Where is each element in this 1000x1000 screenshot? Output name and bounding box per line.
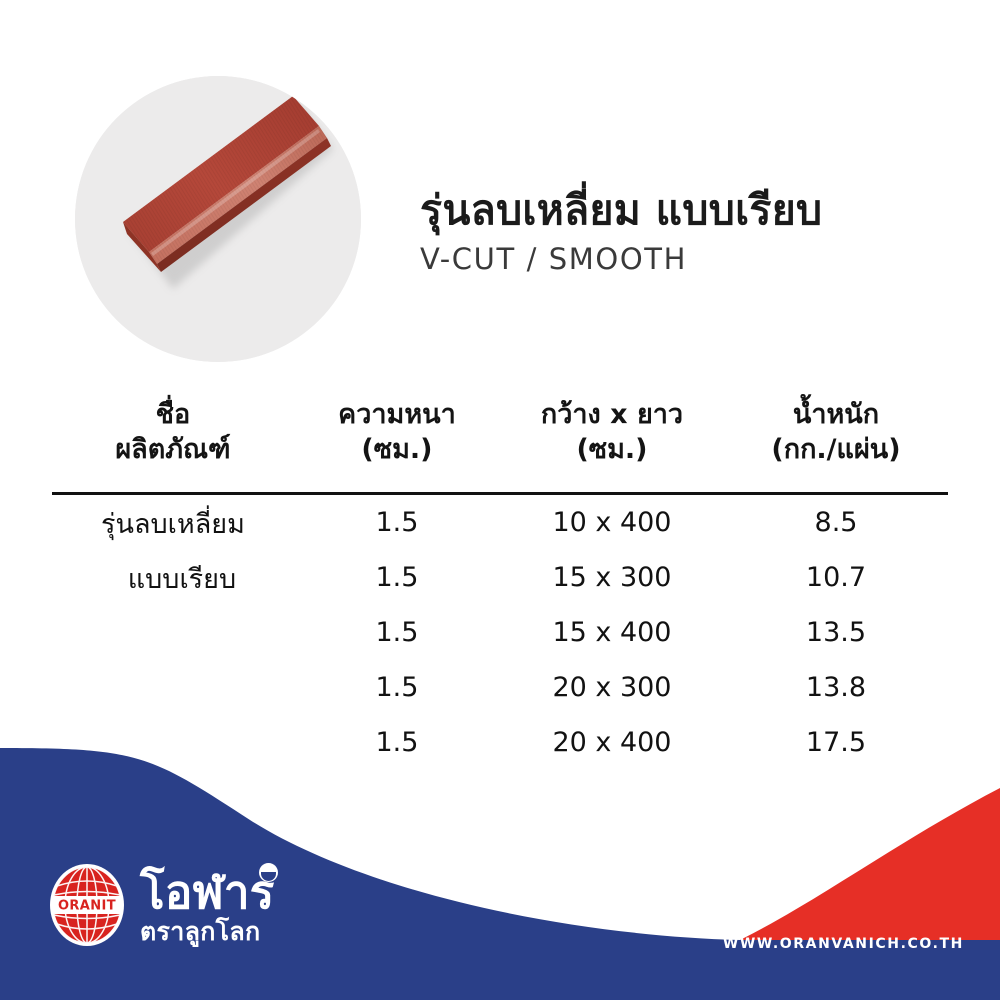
header-line-2: ผลิตภัณฑ์ (52, 433, 294, 468)
cell-weight: 13.5 (724, 605, 948, 660)
product-name-line-2: แบบเรียบ (52, 552, 294, 607)
brand-lockup: ORANIT โอฬาร ตราลูกโลก (48, 862, 274, 948)
product-name-cell: รุ่นลบเหลี่ยม แบบเรียบ (52, 481, 294, 770)
plank-illustration (75, 76, 361, 362)
header-line-1: กว้าง x ยาว (500, 398, 724, 433)
cell-dimensions: 15 x 300 (500, 550, 724, 605)
product-title-thai: รุ่นลบเหลี่ยม แบบเรียบ (420, 186, 960, 234)
header-line-2: (ซม.) (294, 433, 500, 468)
header-line-1: ความหนา (294, 398, 500, 433)
website-url[interactable]: WWW.ORANVANICH.CO.TH (723, 936, 964, 952)
product-title-block: รุ่นลบเหลี่ยม แบบเรียบ V-CUT / SMOOTH (420, 186, 960, 276)
oranit-globe-logo-icon: ORANIT (48, 862, 126, 948)
cell-weight: 13.8 (724, 660, 948, 715)
table-header-divider (52, 492, 948, 495)
cell-thickness: 1.5 (294, 660, 500, 715)
header-line-2: (ซม.) (500, 433, 724, 468)
brand-subtitle-thai: ตราลูกโลก (140, 919, 274, 944)
cell-thickness: 1.5 (294, 550, 500, 605)
column-header-thickness: ความหนา (ซม.) (294, 398, 500, 481)
specification-table: ชื่อ ผลิตภัณฑ์ ความหนา (ซม.) กว้าง x ยาว… (52, 398, 948, 770)
header-line-1: น้ำหนัก (724, 398, 948, 433)
header-line-2: (กก./แผ่น) (724, 433, 948, 468)
cell-thickness: 1.5 (294, 605, 500, 660)
column-header-weight: น้ำหนัก (กก./แผ่น) (724, 398, 948, 481)
page-footer: ORANIT โอฬาร ตราลูกโลก WWW.ORANVANICH.CO… (0, 730, 1000, 1000)
cell-weight: 10.7 (724, 550, 948, 605)
cell-dimensions: 20 x 300 (500, 660, 724, 715)
column-header-product-name: ชื่อ ผลิตภัณฑ์ (52, 398, 294, 481)
product-name-line-1: รุ่นลบเหลี่ยม (52, 497, 294, 552)
header-line-1: ชื่อ (52, 398, 294, 433)
table-header-row: ชื่อ ผลิตภัณฑ์ ความหนา (ซม.) กว้าง x ยาว… (52, 398, 948, 481)
table-body: รุ่นลบเหลี่ยม แบบเรียบ 1.5 10 x 400 8.5 … (52, 481, 948, 770)
logo-banner-text: ORANIT (58, 899, 116, 914)
column-header-dimensions: กว้าง x ยาว (ซม.) (500, 398, 724, 481)
footer-red-shape (740, 788, 1000, 940)
product-title-english: V-CUT / SMOOTH (420, 242, 960, 276)
brand-name-thai: โอฬาร (140, 869, 274, 915)
table-header: ชื่อ ผลิตภัณฑ์ ความหนา (ซม.) กว้าง x ยาว… (52, 398, 948, 481)
product-photo (75, 76, 361, 362)
brand-text-block: โอฬาร ตราลูกโลก (140, 867, 274, 944)
cell-dimensions: 15 x 400 (500, 605, 724, 660)
spec-table-element: ชื่อ ผลิตภัณฑ์ ความหนา (ซม.) กว้าง x ยาว… (52, 398, 948, 770)
brand-accent-dot-icon (259, 863, 278, 882)
